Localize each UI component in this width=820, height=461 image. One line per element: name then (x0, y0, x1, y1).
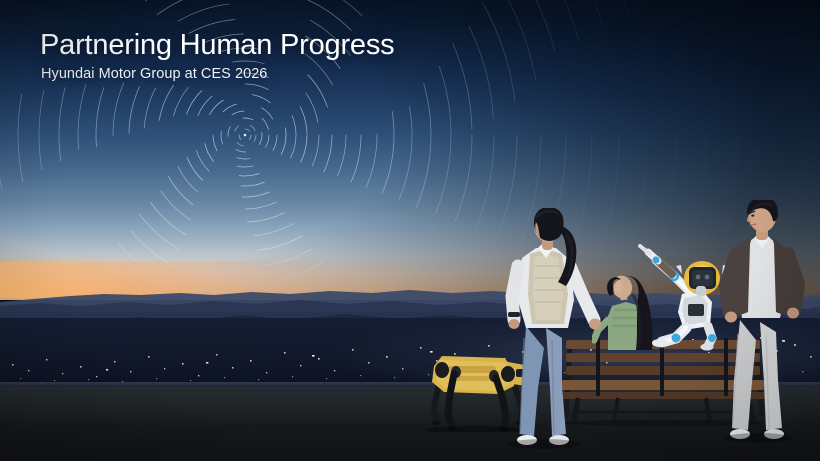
page-subtitle: Hyundai Motor Group at CES 2026 (41, 66, 267, 82)
standing-woman (500, 208, 604, 454)
page-title: Partnering Human Progress (40, 29, 394, 62)
standing-man (714, 200, 810, 450)
hero-banner: Partnering Human Progress Hyundai Motor … (0, 0, 820, 461)
